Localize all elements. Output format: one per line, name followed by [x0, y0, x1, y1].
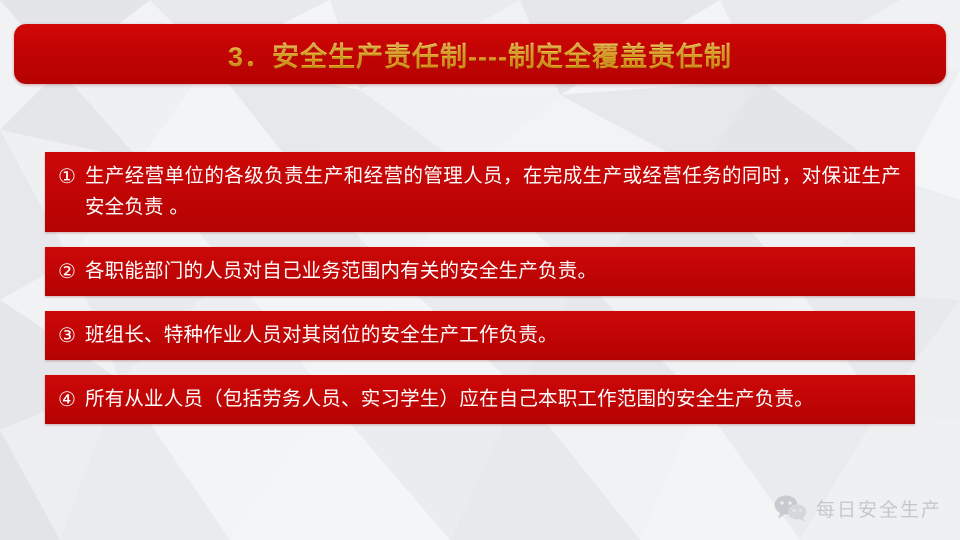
bullet-item-1: ① 生产经营单位的各级负责生产和经营的管理人员，在完成生产或经营任务的同时，对保… — [45, 152, 915, 232]
bullet-item-4: ④ 所有从业人员（包括劳务人员、实习学生）应在自己本职工作范围的安全生产负责。 — [45, 375, 915, 424]
bullet-index-1: ① — [58, 161, 85, 192]
bullet-text-3: 班组长、特种作业人员对其岗位的安全生产工作负责。 — [85, 320, 558, 351]
slide-title-bar: 3．安全生产责任制----制定全覆盖责任制 — [14, 24, 946, 84]
bullet-text-1: 生产经营单位的各级负责生产和经营的管理人员，在完成生产或经营任务的同时，对保证生… — [85, 161, 901, 223]
bullet-index-3: ③ — [58, 320, 85, 351]
watermark: 每日安全生产 — [773, 494, 942, 522]
bullet-text-4: 所有从业人员（包括劳务人员、实习学生）应在自己本职工作范围的安全生产负责。 — [85, 384, 814, 415]
bullet-item-3: ③ 班组长、特种作业人员对其岗位的安全生产工作负责。 — [45, 311, 915, 360]
bullet-item-2: ② 各职能部门的人员对自己业务范围内有关的安全生产负责。 — [45, 247, 915, 296]
bullet-text-2: 各职能部门的人员对自己业务范围内有关的安全生产负责。 — [85, 256, 597, 287]
watermark-text: 每日安全生产 — [816, 495, 942, 522]
bullet-index-2: ② — [58, 256, 85, 287]
page-title: 3．安全生产责任制----制定全覆盖责任制 — [228, 35, 732, 74]
bullet-index-4: ④ — [58, 384, 85, 415]
bullet-list: ① 生产经营单位的各级负责生产和经营的管理人员，在完成生产或经营任务的同时，对保… — [45, 152, 915, 439]
slide-canvas: 3．安全生产责任制----制定全覆盖责任制 ① 生产经营单位的各级负责生产和经营… — [0, 0, 960, 540]
wechat-icon — [773, 494, 807, 522]
